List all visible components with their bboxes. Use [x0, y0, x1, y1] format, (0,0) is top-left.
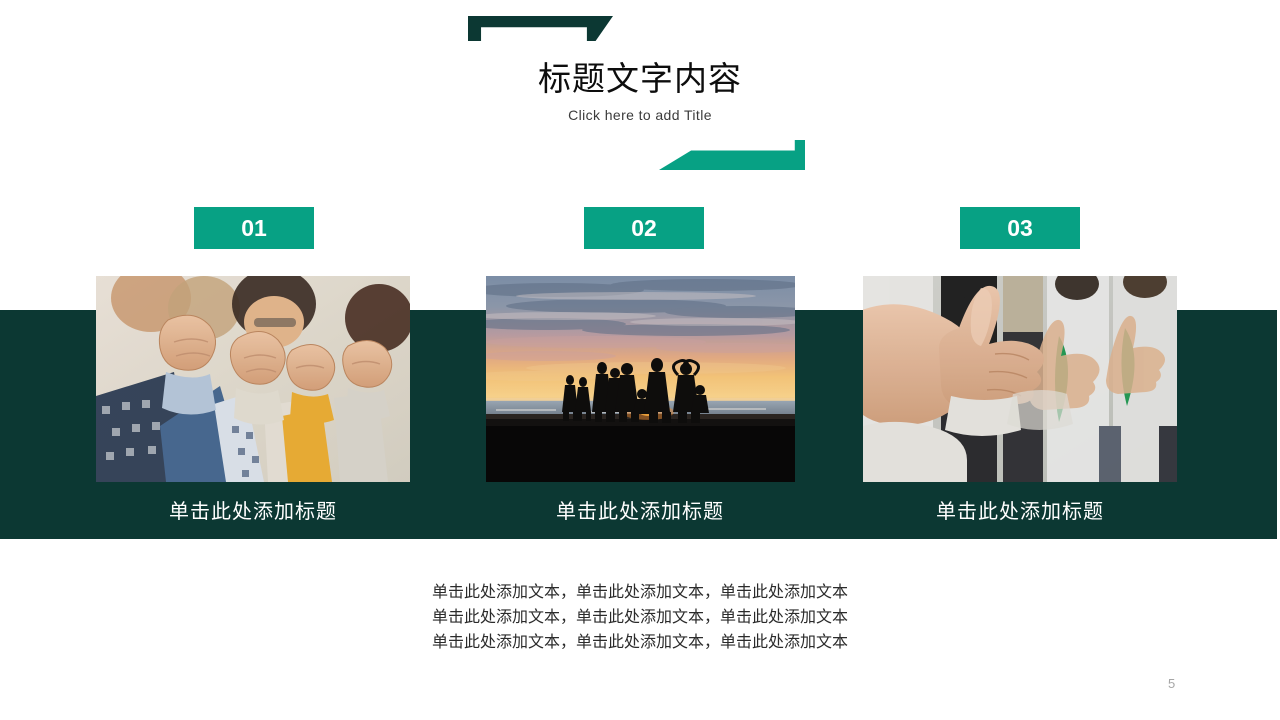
title-block: 标题文字内容 Click here to add Title [0, 56, 1280, 124]
photo-1-graphic [96, 276, 410, 482]
body-line-1: 单击此处添加文本，单击此处添加文本，单击此处添加文本 [0, 579, 1280, 604]
body-line-2: 单击此处添加文本，单击此处添加文本，单击此处添加文本 [0, 604, 1280, 629]
body-paragraph: 单击此处添加文本，单击此处添加文本，单击此处添加文本 单击此处添加文本，单击此处… [0, 579, 1280, 654]
photo-3-graphic [863, 276, 1177, 482]
team-raised-fists-photo[interactable] [96, 276, 410, 482]
badge-01[interactable]: 01 [194, 207, 314, 249]
caption-03: 单击此处添加标题 [855, 496, 1185, 526]
page-number: 5 [1168, 676, 1175, 691]
body-line-3: 单击此处添加文本，单击此处添加文本，单击此处添加文本 [0, 629, 1280, 654]
caption-02: 单击此处添加标题 [475, 496, 805, 526]
page-subtitle: Click here to add Title [0, 106, 1280, 124]
slide-canvas: 标题文字内容 Click here to add Title 01 02 03 [0, 0, 1280, 720]
badge-03[interactable]: 03 [960, 207, 1080, 249]
dark-ribbon-decoration [468, 16, 613, 41]
badge-02[interactable]: 02 [584, 207, 704, 249]
green-ribbon-decoration [659, 140, 805, 170]
photo-2-graphic [486, 276, 795, 482]
beach-sunset-campfire-silhouettes-photo[interactable] [486, 276, 795, 482]
thumbs-up-group-photo[interactable] [863, 276, 1177, 482]
page-title: 标题文字内容 [0, 56, 1280, 102]
caption-01: 单击此处添加标题 [88, 496, 418, 526]
